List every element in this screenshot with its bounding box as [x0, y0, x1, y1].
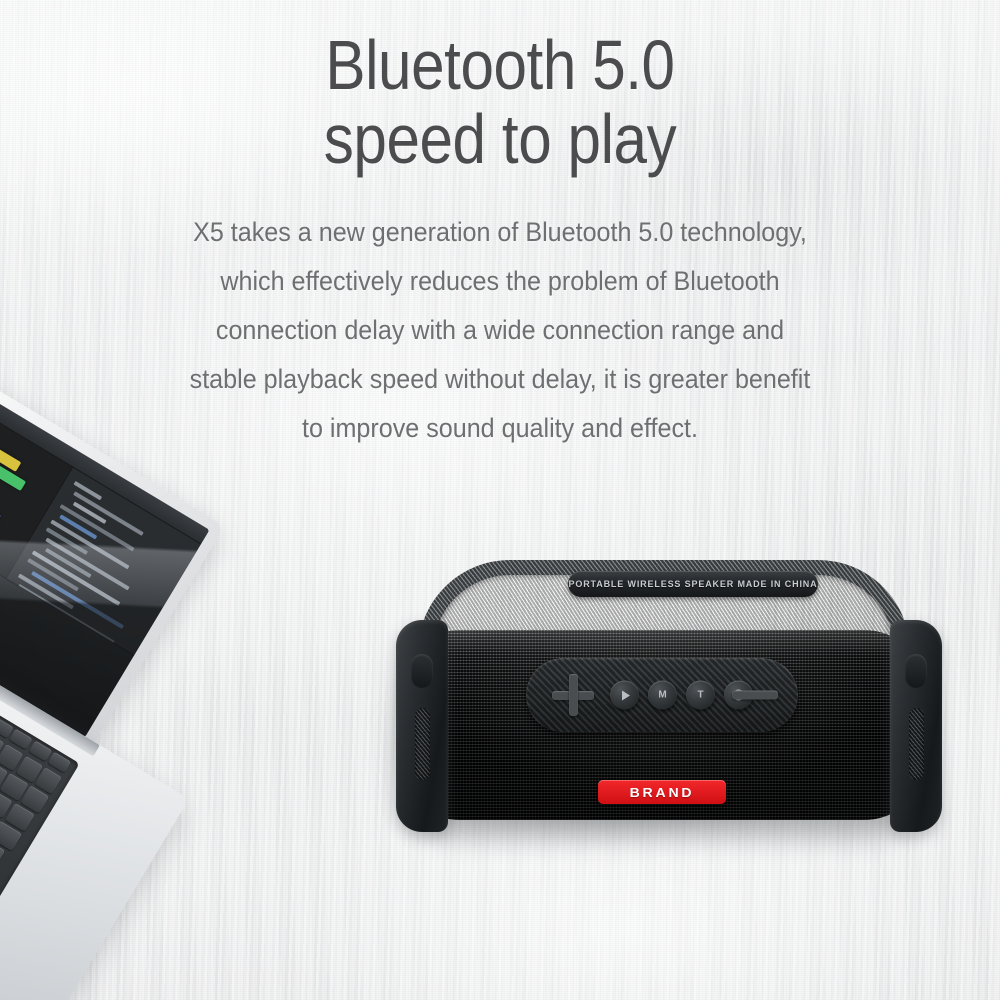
handle-anchor-left — [411, 654, 433, 688]
body-line-5: to improve sound quality and effect. — [35, 404, 965, 453]
play-icon — [622, 690, 630, 700]
description-paragraph: X5 takes a new generation of Bluetooth 5… — [35, 208, 965, 453]
phone-call-button[interactable]: T — [686, 681, 715, 710]
speaker-body: M T BRAND — [406, 630, 918, 820]
marketing-copy: Bluetooth 5.0 speed to play X5 takes a n… — [0, 0, 1000, 453]
rubber-grip-left — [415, 708, 430, 780]
bluetooth-speaker: PORTABLE WIRELESS SPEAKER MADE IN CHINA — [398, 556, 938, 856]
phone-icon: T — [697, 690, 703, 700]
speaker-endcap-left — [396, 620, 448, 832]
product-banner: Bluetooth 5.0 speed to play X5 takes a n… — [0, 0, 1000, 1000]
volume-up-button[interactable] — [552, 674, 594, 716]
headline-line-1: Bluetooth 5.0 — [70, 28, 930, 102]
body-line-2: which effectively reduces the problem of… — [35, 257, 965, 306]
brand-badge-text: BRAND — [630, 785, 695, 800]
handle-label-plate: PORTABLE WIRELESS SPEAKER MADE IN CHINA — [568, 571, 818, 597]
speaker-endcap-right — [890, 620, 942, 832]
headline-line-2: speed to play — [70, 102, 930, 176]
rubber-grip-right — [909, 708, 924, 780]
body-line-3: connection delay with a wide connection … — [35, 306, 965, 355]
timeline-clip — [0, 503, 1, 525]
handle-label-text: PORTABLE WIRELESS SPEAKER MADE IN CHINA — [569, 579, 818, 589]
brand-badge: BRAND — [598, 780, 726, 804]
volume-down-button[interactable] — [732, 691, 778, 700]
speaker-control-panel[interactable]: M T — [526, 658, 798, 732]
mode-icon: M — [658, 690, 666, 700]
body-line-1: X5 takes a new generation of Bluetooth 5… — [35, 208, 965, 257]
mode-button[interactable]: M — [648, 681, 677, 710]
handle-anchor-right — [905, 654, 927, 688]
body-line-4: stable playback speed without delay, it … — [35, 355, 965, 404]
play-pause-button[interactable] — [610, 681, 639, 710]
page-title: Bluetooth 5.0 speed to play — [70, 0, 930, 176]
